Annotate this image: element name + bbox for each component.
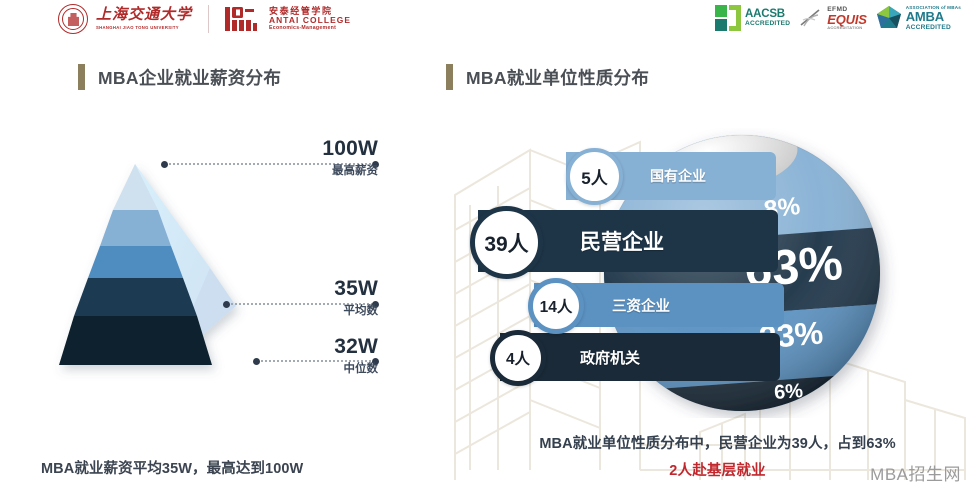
legend-label-private: 民营企业 [580, 226, 664, 256]
sjtu-seal-icon [58, 4, 88, 34]
callout-max-caption: 最高薪资 [268, 166, 378, 178]
page-header: 上海交通大学 SHANGHAI JIAO TONG UNIVERSITY 安泰经… [0, 0, 975, 46]
callout-max-value: 100W [268, 138, 378, 159]
callout-avg-caption: 平均数 [288, 306, 378, 318]
legend-count-jv[interactable]: 14人 [528, 278, 584, 334]
left-panel-caption: MBA就业薪资平均35W，最高达到100W [41, 457, 303, 478]
callout-med-value: 32W [288, 336, 378, 357]
aacsb-sub: ACCREDITED [745, 20, 790, 27]
right-panel-title-text: MBA就业单位性质分布 [466, 65, 649, 90]
legend-label-soe: 国有企业 [650, 166, 706, 186]
accreditation-logo-group: AACSB ACCREDITED EFMD EQUIS ACCREDITATIO… [715, 5, 961, 31]
aacsb-name: AACSB [745, 9, 790, 21]
aacsb-logo-icon [715, 5, 741, 31]
sphere-percent-gov: 6% [773, 380, 804, 404]
callout-average-salary: 35W 平均数 [288, 278, 378, 318]
sjtu-antai-logo-group: 上海交通大学 SHANGHAI JIAO TONG UNIVERSITY 安泰经… [58, 4, 351, 34]
legend-label-jv: 三资企业 [612, 295, 670, 316]
site-watermark: MBA招生网 [870, 460, 961, 485]
equis-accreditation-badge: EFMD EQUIS ACCREDITATION [799, 6, 866, 31]
legend-count-private[interactable]: 39人 [470, 206, 543, 279]
equis-name: EQUIS [827, 13, 866, 26]
logo-divider [208, 5, 209, 33]
equis-logo-icon [799, 6, 823, 30]
right-caption-line1: MBA就业单位性质分布中，民营企业为39人，占到63% [470, 432, 965, 453]
aacsb-accreditation-badge: AACSB ACCREDITED [715, 5, 790, 31]
sjtu-name-cn: 上海交通大学 [96, 8, 192, 23]
equis-sub: ACCREDITATION [827, 26, 866, 30]
callout-max-salary: 100W 最高薪资 [268, 138, 378, 178]
legend-label-gov: 政府机关 [580, 347, 640, 368]
legend-count-gov[interactable]: 4人 [490, 330, 546, 386]
amba-accreditation-badge: ASSOCIATION of MBAs AMBA ACCREDITED [876, 5, 961, 31]
antai-wordmark: 安泰经管学院 ANTAI COLLEGE Economics-Managemen… [269, 6, 351, 31]
title-accent-bar [446, 64, 453, 90]
callout-median-salary: 32W 中位数 [288, 336, 378, 376]
left-panel-title: MBA企业就业薪资分布 [78, 64, 281, 90]
antai-name-sub: Economics-Management [269, 26, 351, 32]
right-panel-title: MBA就业单位性质分布 [446, 64, 649, 90]
sjtu-wordmark: 上海交通大学 SHANGHAI JIAO TONG UNIVERSITY [96, 8, 192, 30]
sjtu-name-en: SHANGHAI JIAO TONG UNIVERSITY [96, 26, 192, 30]
acem-logo-icon [225, 6, 261, 32]
title-accent-bar [78, 64, 85, 90]
left-panel-title-text: MBA企业就业薪资分布 [98, 65, 281, 90]
amba-sub: ACCREDITED [906, 24, 961, 31]
callout-avg-value: 35W [288, 278, 378, 299]
legend-count-soe[interactable]: 5人 [566, 148, 623, 205]
callout-med-caption: 中位数 [288, 364, 378, 376]
amba-logo-icon [876, 5, 902, 31]
amba-name: AMBA [906, 10, 961, 23]
